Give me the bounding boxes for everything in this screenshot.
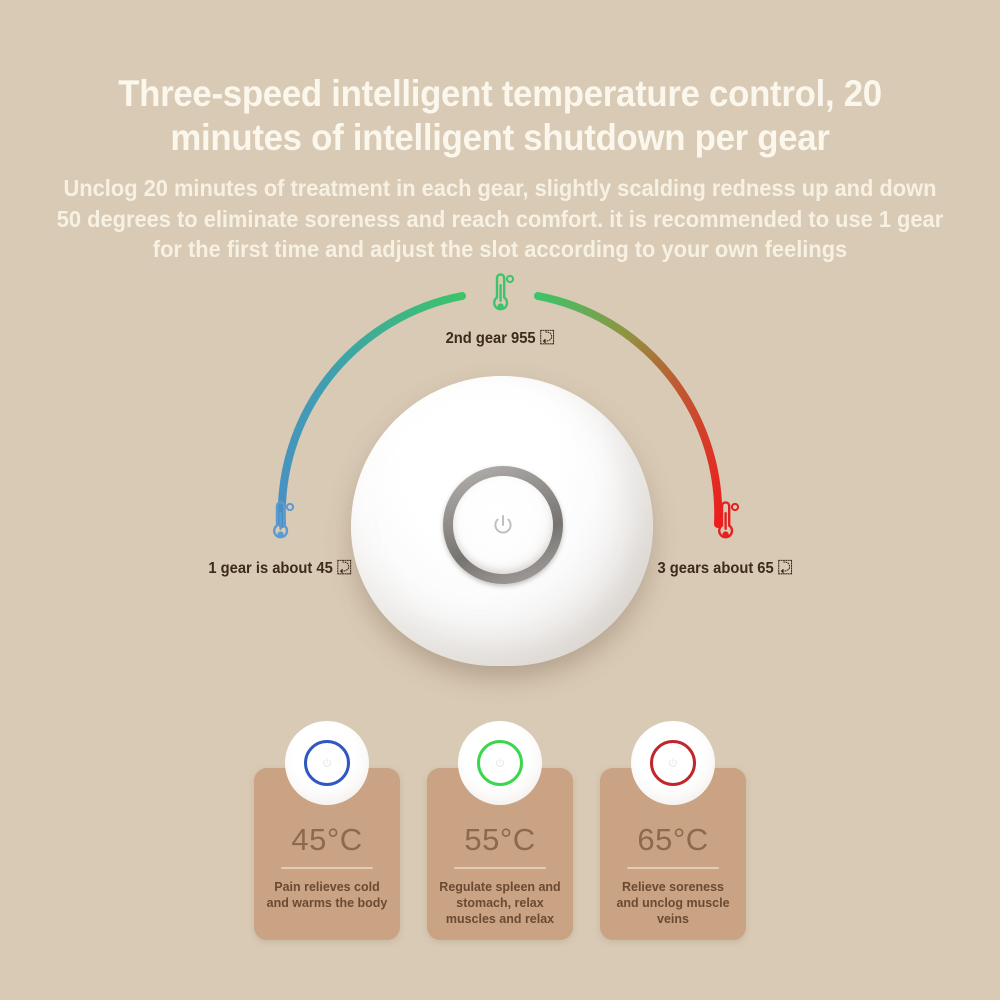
device-disc-icon — [631, 721, 715, 805]
gear-1-marker: 1 gear is about 45 ⿿ — [180, 498, 380, 578]
gear-2-marker: 2nd gear 955 ⿿ — [390, 270, 610, 348]
card-description: Pain relieves cold and warms the body — [264, 879, 391, 911]
page-title: Three-speed intelligent temperature cont… — [86, 72, 913, 159]
gear-2-label: 2nd gear 955 ⿿ — [396, 329, 605, 348]
temperature-card[interactable]: 55°C Regulate spleen and stomach, relax … — [427, 768, 573, 940]
temperature-arc-diagram: 2nd gear 955 ⿿ 1 gear is about 45 ⿿ 3 ge… — [0, 258, 1000, 718]
card-temperature: 45°C — [291, 824, 362, 855]
thermometer-icon — [485, 270, 515, 320]
gear-3-marker: 3 gears about 65 ⿿ — [625, 498, 825, 578]
temperature-card[interactable]: 45°C Pain relieves cold and warms the bo… — [254, 768, 400, 940]
device-disc-icon — [285, 721, 369, 805]
indicator-ring — [477, 740, 523, 786]
power-icon — [490, 512, 516, 538]
header: Three-speed intelligent temperature cont… — [0, 0, 1000, 265]
thermometer-icon — [710, 498, 740, 548]
power-icon — [667, 757, 679, 769]
card-description: Relieve soreness and unclog muscle veins — [610, 879, 737, 927]
thermometer-icon — [265, 498, 295, 548]
device-disc-icon — [458, 721, 542, 805]
card-temperature: 55°C — [464, 824, 535, 855]
card-description: Regulate spleen and stomach, relax muscl… — [437, 879, 564, 927]
device-power-button[interactable] — [453, 476, 553, 574]
device-outer-ring — [443, 466, 563, 584]
page-subtitle: Unclog 20 minutes of treatment in each g… — [49, 173, 952, 265]
massage-device-image — [337, 368, 667, 688]
power-icon — [321, 757, 333, 769]
temperature-cards: 45°C Pain relieves cold and warms the bo… — [0, 768, 1000, 940]
card-divider — [281, 867, 373, 869]
temperature-card[interactable]: 65°C Relieve soreness and unclog muscle … — [600, 768, 746, 940]
card-divider — [454, 867, 546, 869]
indicator-ring — [304, 740, 350, 786]
card-temperature: 65°C — [637, 824, 708, 855]
gear-1-label: 1 gear is about 45 ⿿ — [185, 559, 375, 578]
card-divider — [627, 867, 719, 869]
gear-3-label: 3 gears about 65 ⿿ — [630, 559, 820, 578]
power-icon — [494, 757, 506, 769]
indicator-ring — [650, 740, 696, 786]
